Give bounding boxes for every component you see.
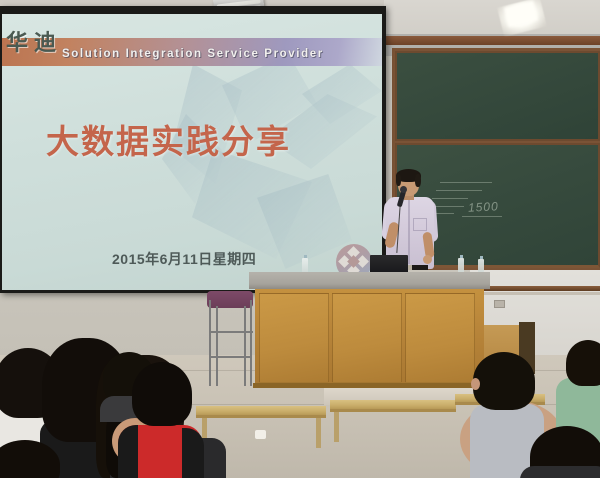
wall-trim-rail [384,36,600,45]
podium-base [253,383,486,388]
desk-leg [334,412,339,442]
lecture-hall-photo: 1500 华迪 Solution Integration Service P [0,0,600,478]
chalk-mark [434,206,464,207]
presenter-hair-side [396,174,401,186]
presenter-right-hand [423,255,432,264]
wall-power-outlet-icon [494,300,505,308]
purple-chair-back [207,291,253,308]
chair-seat-rail [209,331,253,333]
chair-leg [209,300,211,386]
chalkboard-number: 1500 [468,199,499,215]
presenter-shirt-placket [408,200,410,264]
chair-leg [250,300,252,386]
slide-banner-tagline: Solution Integration Service Provider [62,46,382,62]
audience-torso [520,466,600,478]
chalk-mark [432,198,468,199]
audience-hair [132,362,192,426]
chalk-mark [440,182,492,183]
slide-company-logo: 华迪 [6,30,62,56]
right-wall-rail-shadow [470,292,600,295]
student-desk [330,400,456,409]
chair-cross-rail [210,356,251,358]
student-desk [196,406,326,415]
chair-leg [244,306,246,386]
presenter-shirt-pocket [413,218,427,231]
desk-edge [196,415,326,418]
projected-slide: 华迪 Solution Integration Service Provider… [2,14,382,290]
slide-date: 2015年6月11日星期四 [112,250,332,268]
audience-tank-strap [182,428,204,478]
chair-leg [216,306,218,386]
presenter-hair-side [415,174,421,187]
chalk-underline [462,216,502,217]
chalk-mark [436,190,482,191]
audience-ear [471,378,480,390]
podium-panel [405,293,475,383]
slide-title: 大数据实践分享 [46,122,346,162]
podium-panel [332,293,402,383]
audience-hair [566,340,600,386]
blackboard-upper-panel [395,51,600,141]
tissue-icon [255,430,266,439]
podium-panel [259,293,329,383]
water-bottle-icon [478,259,484,273]
projection-screen-frame: 华迪 Solution Integration Service Provider… [0,6,386,293]
microphone-head-icon [400,186,407,193]
desk-edge [330,409,456,412]
desk-leg [316,418,321,448]
podium-counter-top [249,272,490,289]
audience-hair [473,352,535,410]
audience-tank-strap [118,425,138,478]
